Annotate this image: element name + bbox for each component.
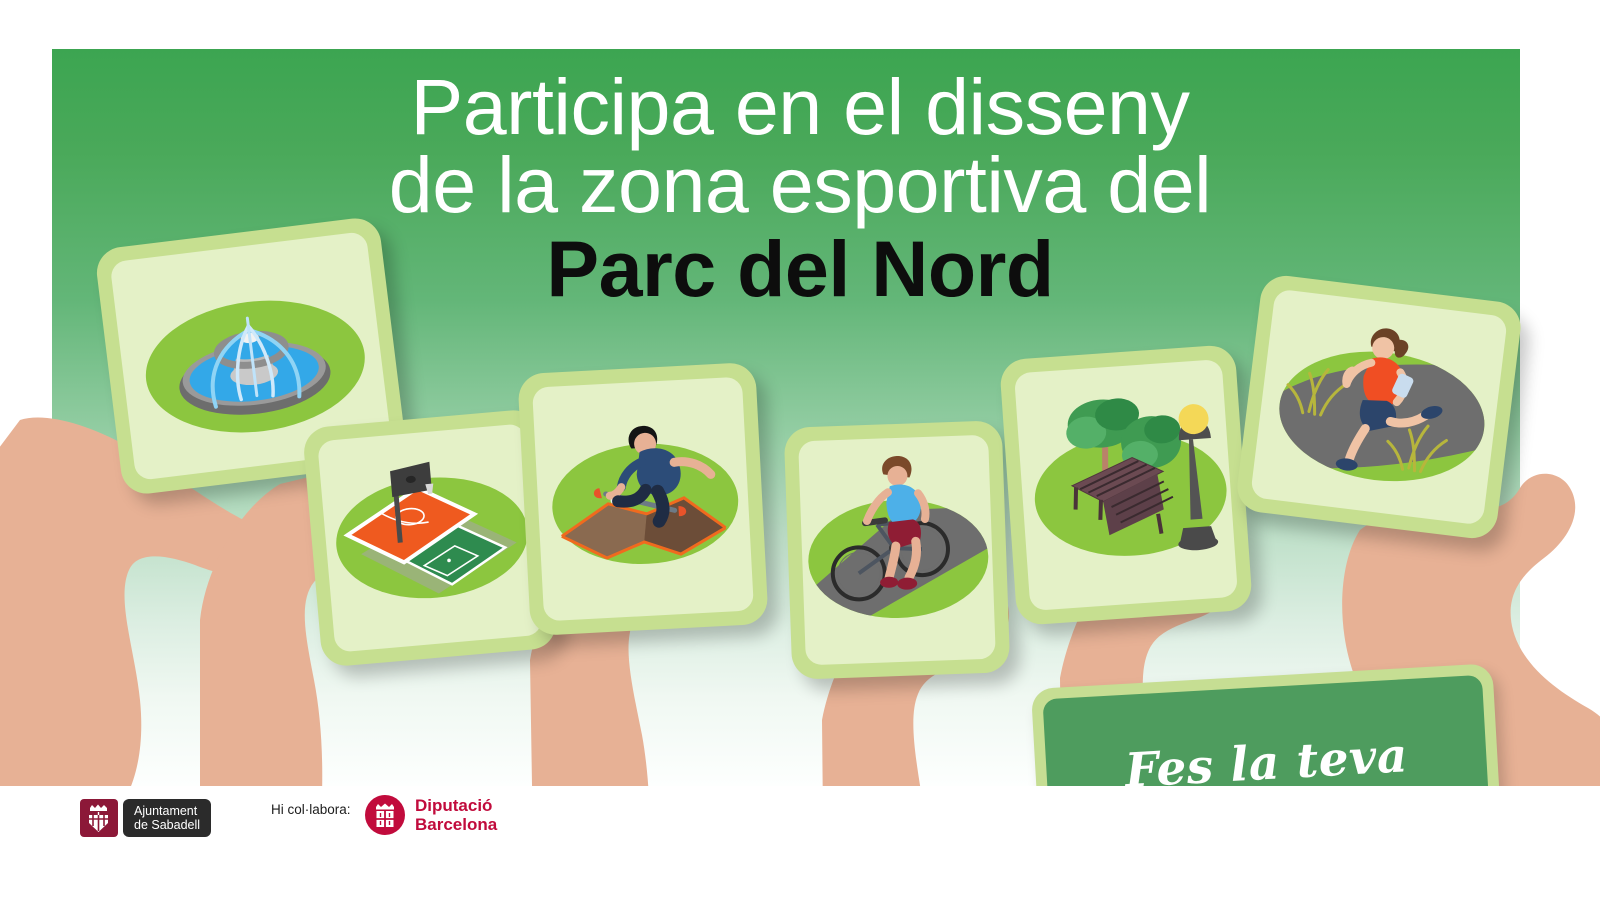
ajuntament-line-1: Ajuntament [134,804,200,818]
card-sports-court-art [317,423,543,652]
card-sports-court[interactable] [302,408,558,668]
skateboarder-icon [532,377,754,622]
ajuntament-logo[interactable]: Ajuntament de Sabadell [80,799,211,837]
collaborate-label: Hi col·labora: [271,802,351,817]
card-bikepath[interactable] [784,420,1011,679]
diputacio-line-2: Barcelona [415,815,497,834]
card-skatepark[interactable] [517,362,768,636]
sabadell-crest-icon [80,799,118,837]
sports-court-icon [317,423,543,652]
poster-canvas: Participa en el disseny de la zona espor… [0,0,1600,900]
card-bench-trees-art [1014,359,1238,611]
card-running[interactable] [1234,273,1523,541]
card-skatepark-art [532,377,754,622]
park-bench-icon [1014,359,1238,611]
diputacio-crest-icon [365,795,405,835]
footer-logos: Ajuntament de Sabadell Hi col·labora: Di… [0,786,1600,900]
diputacio-logo[interactable]: Diputació Barcelona [365,795,497,835]
cyclist-icon [798,435,996,665]
ajuntament-line-2: de Sabadell [134,818,200,832]
card-running-art [1250,289,1508,526]
card-bench-trees[interactable] [999,344,1253,626]
runner-icon [1250,289,1508,526]
card-bikepath-art [798,435,996,665]
ajuntament-name-box: Ajuntament de Sabadell [123,799,211,837]
diputacio-line-1: Diputació [415,796,492,815]
diputacio-name: Diputació Barcelona [415,796,497,834]
